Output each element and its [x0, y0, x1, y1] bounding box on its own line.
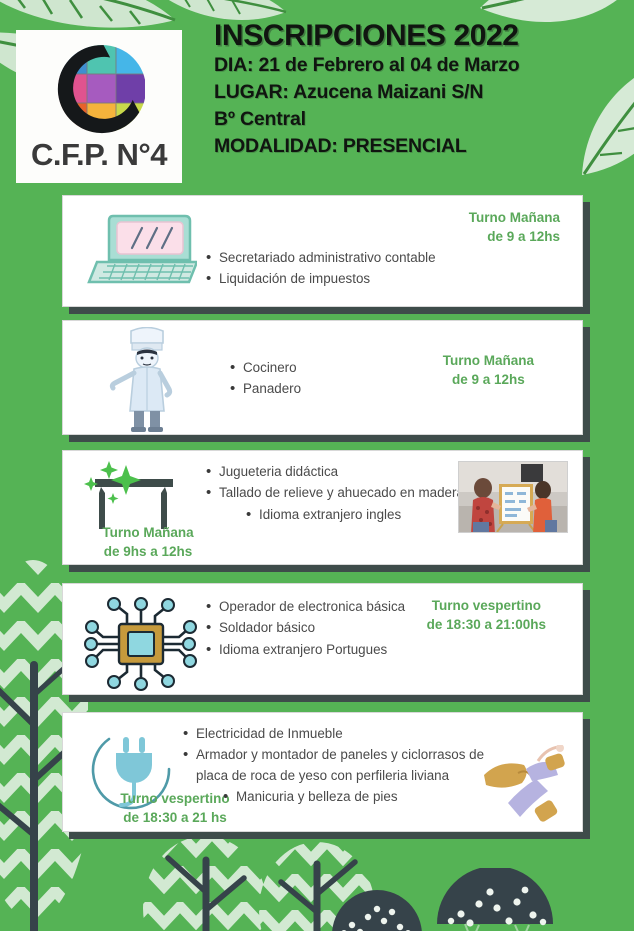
course-list-2: Cocinero Panadero — [230, 358, 450, 401]
shift-line-5b: de 18:30 a 21 hs — [105, 808, 245, 827]
list-item: Cocinero — [230, 358, 450, 378]
shift-line-4a: Turno vespertino — [427, 596, 546, 615]
poster-header: C.F.P. N°4 INSCRIPCIONES 2022 DIA: 21 de… — [0, 0, 634, 190]
course-list-3: Jugueteria didáctica Tallado de relieve … — [206, 462, 466, 526]
shift-label-4: Turno vespertino de 18:30 a 21:00hs — [427, 596, 546, 634]
shift-line-1b: de 9 a 12hs — [469, 227, 560, 246]
classroom-flipchart-photo — [458, 461, 568, 533]
chef-icon — [101, 327, 193, 432]
shift-line-2a: Turno Mañana — [443, 351, 534, 370]
shift-label-2: Turno Mañana de 9 a 12hs — [443, 351, 534, 389]
list-item: Tallado de relieve y ahuecado en madera — [206, 483, 466, 503]
svg-text:C.F.P. N°4: C.F.P. N°4 — [31, 137, 168, 172]
tree-mid-icon — [140, 830, 270, 931]
shift-line-4b: de 18:30 a 21:00hs — [427, 615, 546, 634]
list-item: Idioma extranjero ingles — [246, 505, 466, 525]
bush-small-icon — [330, 885, 425, 931]
shift-line-2b: de 9 a 12hs — [443, 370, 534, 389]
header-line-neighborhood: Bº Central — [214, 106, 624, 133]
shift-line-3b: de 9hs a 12hs — [83, 542, 213, 561]
list-item: Operador de electronica básica — [206, 597, 421, 617]
header-line-place: LUGAR: Azucena Maizani S/N — [214, 79, 624, 106]
header-text-block: INSCRIPCIONES 2022 DIA: 21 de Febrero al… — [214, 20, 624, 160]
card-gastronomia[interactable]: Turno Mañana de 9 a 12hs Cocinero Panade… — [62, 320, 583, 435]
list-item: Idioma extranjero Portugues — [206, 640, 421, 660]
list-item: Secretariado administrativo contable — [206, 248, 536, 268]
manicure-hands-illustration — [478, 745, 570, 823]
laptop-icon — [85, 208, 197, 290]
list-item: Manicuria y belleza de pies — [223, 787, 488, 807]
shift-line-3a: Turno Mañana — [83, 523, 213, 542]
tree-right-icon — [255, 838, 380, 931]
header-line-date: DIA: 21 de Febrero al 04 de Marzo — [214, 52, 624, 79]
card-secretariado[interactable]: Turno Mañana de 9 a 12hs Secretariado ad… — [62, 195, 583, 307]
list-item: Panadero — [230, 379, 450, 399]
card-madera[interactable]: Turno Mañana de 9hs a 12hs Jugueteria di… — [62, 450, 583, 565]
card-electronica[interactable]: Turno vespertino de 18:30 a 21:00hs Oper… — [62, 583, 583, 695]
course-list-1: Secretariado administrativo contable Liq… — [206, 248, 536, 291]
logo: C.F.P. N°4 — [16, 30, 182, 183]
list-item: Soldador básico — [206, 618, 421, 638]
page-title: INSCRIPCIONES 2022 — [214, 20, 624, 52]
cfp-logo-icon: C.F.P. N°4 — [24, 37, 174, 177]
list-item: Armador y montador de paneles y ciclorra… — [183, 745, 488, 786]
course-list-5: Electricidad de Inmueble Armador y monta… — [183, 724, 488, 809]
shift-label-1: Turno Mañana de 9 a 12hs — [469, 208, 560, 246]
course-list-4: Operador de electronica básica Soldador … — [206, 597, 421, 661]
header-line-modality: MODALIDAD: PRESENCIAL — [214, 133, 624, 160]
shift-line-1a: Turno Mañana — [469, 208, 560, 227]
card-electricidad[interactable]: Turno vespertino de 18:30 a 21 hs Electr… — [62, 712, 583, 832]
bush-large-icon — [435, 868, 555, 931]
microchip-icon — [83, 592, 199, 692]
shift-label-3: Turno Mañana de 9hs a 12hs — [83, 523, 213, 561]
list-item: Electricidad de Inmueble — [183, 724, 488, 744]
list-item: Liquidación de impuestos — [206, 269, 536, 289]
list-item: Jugueteria didáctica — [206, 462, 466, 482]
